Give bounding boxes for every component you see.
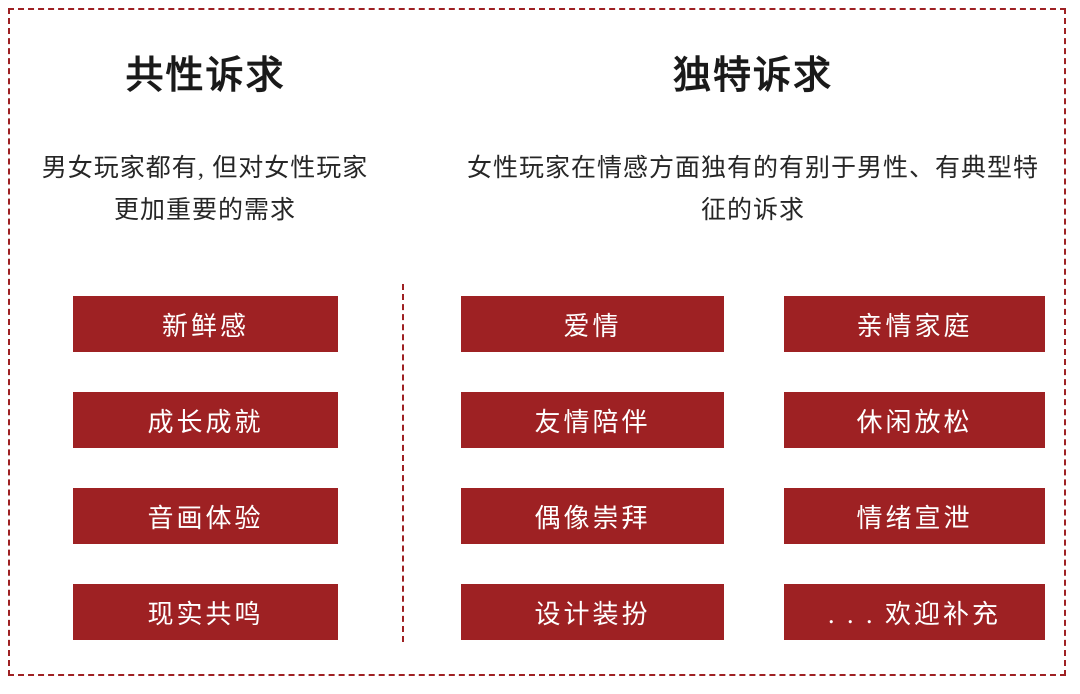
tag-box-common-2[interactable]: 成长成就 <box>73 392 338 448</box>
column-divider-dashed-line <box>402 284 404 642</box>
tag-box-unique-b1[interactable]: 亲情家庭 <box>784 296 1045 352</box>
tag-box-common-4[interactable]: 现实共鸣 <box>73 584 338 640</box>
tag-box-common-1[interactable]: 新鲜感 <box>73 296 338 352</box>
tag-box-unique-a2[interactable]: 友情陪伴 <box>461 392 724 448</box>
tag-box-common-3[interactable]: 音画体验 <box>73 488 338 544</box>
slide-canvas: 共性诉求 男女玩家都有, 但对女性玩家更加重要的需求 新鲜感 成长成就 音画体验… <box>0 0 1080 694</box>
tag-box-unique-b4[interactable]: . . . 欢迎补充 <box>784 584 1045 640</box>
tag-box-unique-b3[interactable]: 情绪宣泄 <box>784 488 1045 544</box>
tag-box-unique-a4[interactable]: 设计装扮 <box>461 584 724 640</box>
group-description-unique: 女性玩家在情感方面独有的有别于男性、有典型特征的诉求 <box>455 148 1051 232</box>
group-description-common: 男女玩家都有, 但对女性玩家更加重要的需求 <box>40 148 370 232</box>
tag-box-unique-a1[interactable]: 爱情 <box>461 296 724 352</box>
group-title-common: 共性诉求 <box>73 44 338 99</box>
tag-box-unique-b2[interactable]: 休闲放松 <box>784 392 1045 448</box>
group-title-unique: 独特诉求 <box>461 44 1045 99</box>
tag-box-unique-a3[interactable]: 偶像崇拜 <box>461 488 724 544</box>
